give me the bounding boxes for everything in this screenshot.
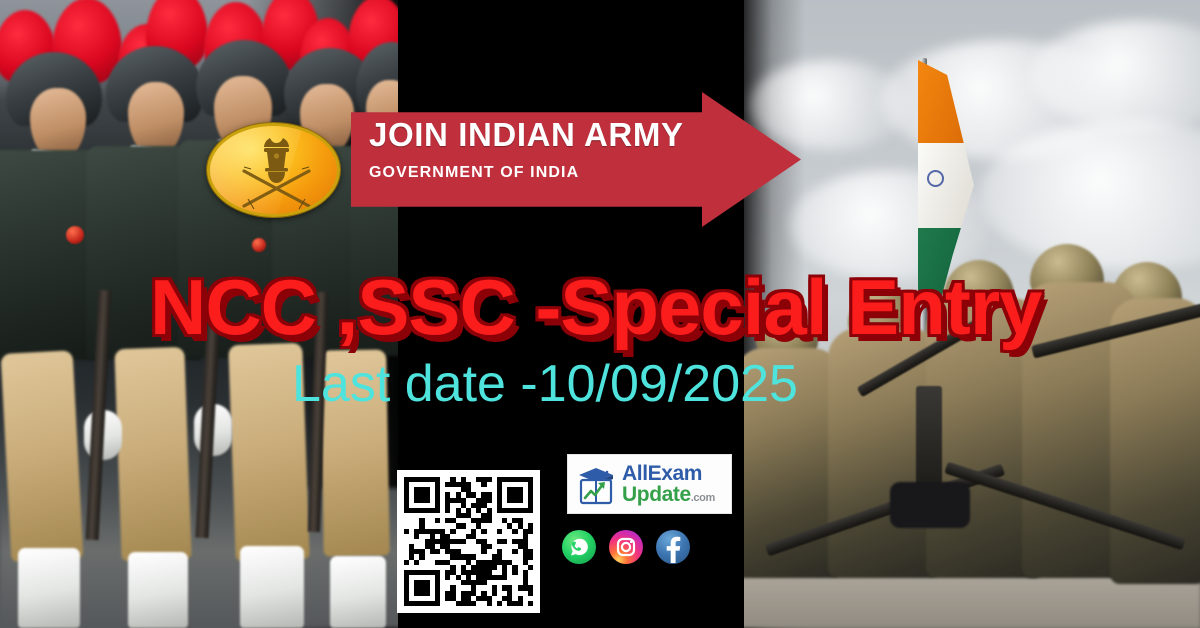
indian-army-crest-icon bbox=[207, 123, 340, 217]
logo-line-1: AllExam bbox=[622, 463, 715, 484]
join-indian-army-banner: JOIN INDIAN ARMY GOVERNMENT OF INDIA bbox=[351, 92, 801, 227]
facebook-icon[interactable] bbox=[656, 530, 690, 564]
facebook-glyph-icon bbox=[656, 530, 690, 564]
qr-grid bbox=[404, 477, 533, 606]
whatsapp-glyph-icon bbox=[562, 530, 596, 564]
logo-tld: .com bbox=[691, 492, 715, 504]
last-date-text: Last date -10/09/2025 bbox=[292, 358, 798, 410]
allexamupdate-logo[interactable]: AllExam Update.com bbox=[568, 455, 731, 513]
graduation-book-icon bbox=[576, 463, 616, 505]
banner-title: JOIN INDIAN ARMY bbox=[369, 118, 709, 151]
instagram-glyph-icon bbox=[609, 530, 643, 564]
social-links bbox=[562, 530, 690, 564]
banner-subtitle: GOVERNMENT OF INDIA bbox=[369, 165, 709, 181]
crest-emblem-icon bbox=[210, 126, 340, 217]
qr-code[interactable] bbox=[397, 470, 540, 613]
logo-line-2: Update bbox=[622, 483, 691, 506]
instagram-icon[interactable] bbox=[609, 530, 643, 564]
poster-canvas: JOIN INDIAN ARMY GOVERNMENT OF INDIA bbox=[0, 0, 1200, 628]
page-title: NCC ,SSC -Special Entry bbox=[150, 268, 1050, 346]
whatsapp-icon[interactable] bbox=[562, 530, 596, 564]
